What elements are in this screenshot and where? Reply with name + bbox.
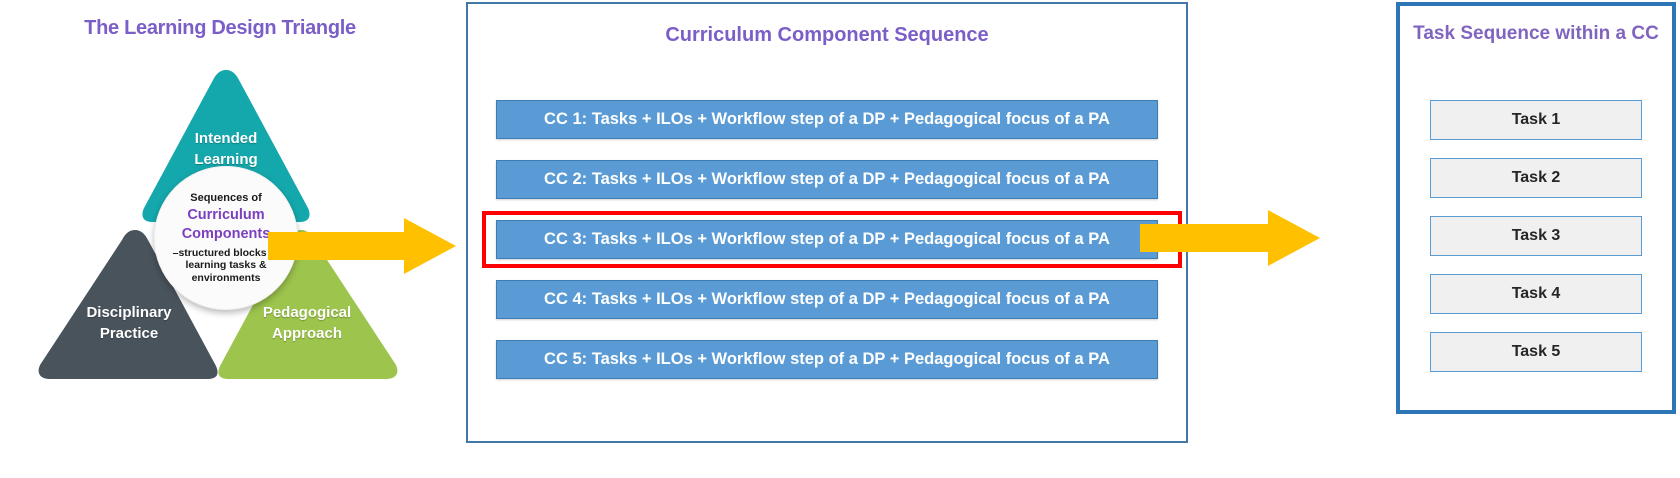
middle-panel-title: Curriculum Component Sequence xyxy=(468,24,1186,47)
circle-line-2: CurriculumComponents xyxy=(182,206,271,244)
task-box-4[interactable]: Task 4 xyxy=(1430,274,1642,314)
cc-bar-1[interactable]: CC 1: Tasks + ILOs + Workflow step of a … xyxy=(496,100,1158,139)
cc-bar-4[interactable]: CC 4: Tasks + ILOs + Workflow step of a … xyxy=(496,280,1158,319)
curriculum-component-list: CC 1: Tasks + ILOs + Workflow step of a … xyxy=(496,100,1158,379)
task-box-2[interactable]: Task 2 xyxy=(1430,158,1642,198)
circle-line-1: Sequences of xyxy=(190,192,262,206)
curriculum-component-sequence-panel: Curriculum Component Sequence CC 1: Task… xyxy=(466,2,1188,443)
cc-bar-5[interactable]: CC 5: Tasks + ILOs + Workflow step of a … xyxy=(496,340,1158,379)
cc-bar-3[interactable]: CC 3: Tasks + ILOs + Workflow step of a … xyxy=(496,220,1158,259)
task-list: Task 1 Task 2 Task 3 Task 4 Task 5 xyxy=(1430,100,1642,372)
arrow-triangle-to-sequence-icon xyxy=(268,218,456,274)
arrow-right-icon xyxy=(268,218,456,274)
arrow-right-icon xyxy=(1140,210,1320,266)
task-sequence-panel: Task Sequence within a CC Task 1 Task 2 … xyxy=(1396,2,1676,414)
task-box-3[interactable]: Task 3 xyxy=(1430,216,1642,256)
cc-bar-2[interactable]: CC 2: Tasks + ILOs + Workflow step of a … xyxy=(496,160,1158,199)
left-panel-title: The Learning Design Triangle xyxy=(0,17,440,40)
task-box-1[interactable]: Task 1 xyxy=(1430,100,1642,140)
arrow-sequence-to-tasks-icon xyxy=(1140,210,1320,266)
right-panel-title: Task Sequence within a CC xyxy=(1410,22,1662,47)
task-box-5[interactable]: Task 5 xyxy=(1430,332,1642,372)
circle-line-3: –structured blocks oflearning tasks &env… xyxy=(173,247,280,285)
